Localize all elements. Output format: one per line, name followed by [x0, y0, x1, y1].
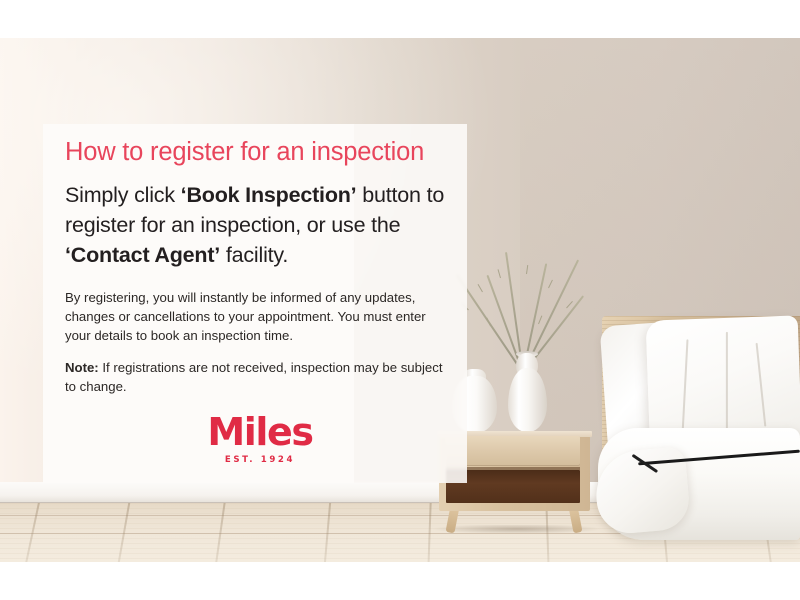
info-panel: How to register for an inspection Simply…: [43, 124, 467, 483]
pillow-crease: [726, 332, 728, 436]
note-text: If registrations are not received, inspe…: [65, 360, 443, 394]
pillow-crease: [681, 339, 688, 435]
logo-tagline: EST. 1924: [65, 455, 455, 465]
lead-paragraph: Simply click ‘Book Inspection’ button to…: [65, 180, 457, 270]
note-paragraph: Note: If registrations are not received,…: [65, 358, 445, 396]
letterbox-bottom: [0, 562, 800, 600]
brand-logo: Miles EST. 1924: [65, 412, 455, 465]
letterbox-top: [0, 0, 800, 38]
branch-twig: [526, 265, 528, 274]
info-panel-content: How to register for an inspection Simply…: [65, 124, 465, 483]
lead-text-1: Simply click: [65, 183, 181, 207]
nightstand-leg-right: [569, 508, 582, 533]
nightstand-leg-left: [446, 508, 459, 533]
body-paragraph: By registering, you will instantly be in…: [65, 288, 445, 345]
lead-text-3: facility.: [220, 243, 288, 267]
pillow-crease: [756, 343, 767, 427]
room-photo: How to register for an inspection Simply…: [0, 38, 800, 562]
branch-twig: [548, 280, 553, 289]
branch-twig: [478, 284, 483, 292]
branch-twig: [498, 269, 501, 278]
vase-right: [508, 368, 547, 432]
branch-twig: [538, 315, 542, 324]
contact-agent-label: ‘Contact Agent’: [65, 243, 220, 267]
book-inspection-label: ‘Book Inspection’: [181, 183, 357, 207]
note-label: Note:: [65, 360, 99, 375]
page-title: How to register for an inspection: [65, 138, 424, 167]
poster-canvas: How to register for an inspection Simply…: [0, 0, 800, 600]
logo-wordmark: Miles: [65, 412, 455, 452]
